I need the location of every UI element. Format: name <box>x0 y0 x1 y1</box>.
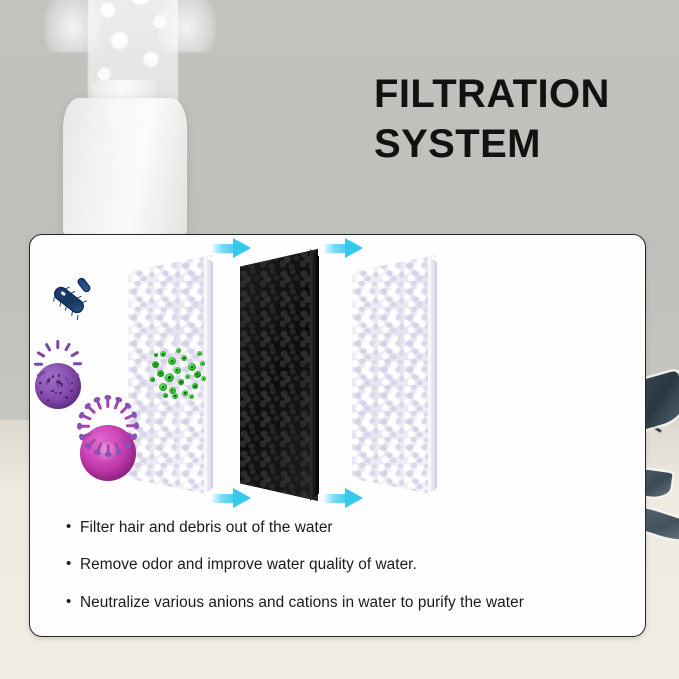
bullet-text: Remove odor and improve water quality of… <box>80 555 626 574</box>
poster-canvas: FILTRATION SYSTEM <box>0 0 679 679</box>
page-title-line-2: SYSTEM <box>374 120 664 170</box>
list-item: • Neutralize various anions and cations … <box>66 593 626 612</box>
feature-card: • Filter hair and debris out of the wate… <box>29 234 646 637</box>
bullet-marker: • <box>66 518 80 537</box>
feature-bullet-list: • Filter hair and debris out of the wate… <box>66 518 626 630</box>
bullet-text: Filter hair and debris out of the water <box>80 518 626 537</box>
bullet-marker: • <box>66 593 80 612</box>
page-title: FILTRATION SYSTEM <box>374 70 664 169</box>
virus-purple <box>35 363 81 409</box>
filtration-diagram <box>30 235 645 515</box>
bacteria-rod <box>50 279 96 325</box>
bullet-marker: • <box>66 555 80 574</box>
virus-magenta <box>80 425 136 481</box>
list-item: • Filter hair and debris out of the wate… <box>66 518 626 537</box>
activated-carbon-layer <box>240 249 318 501</box>
page-title-line-1: FILTRATION <box>374 72 610 116</box>
bullet-text: Neutralize various anions and cations in… <box>80 593 626 612</box>
list-item: • Remove odor and improve water quality … <box>66 555 626 574</box>
water-vase <box>63 98 187 238</box>
post-filter-mesh-layer <box>352 255 436 495</box>
bacteria-cluster-green <box>148 343 210 401</box>
